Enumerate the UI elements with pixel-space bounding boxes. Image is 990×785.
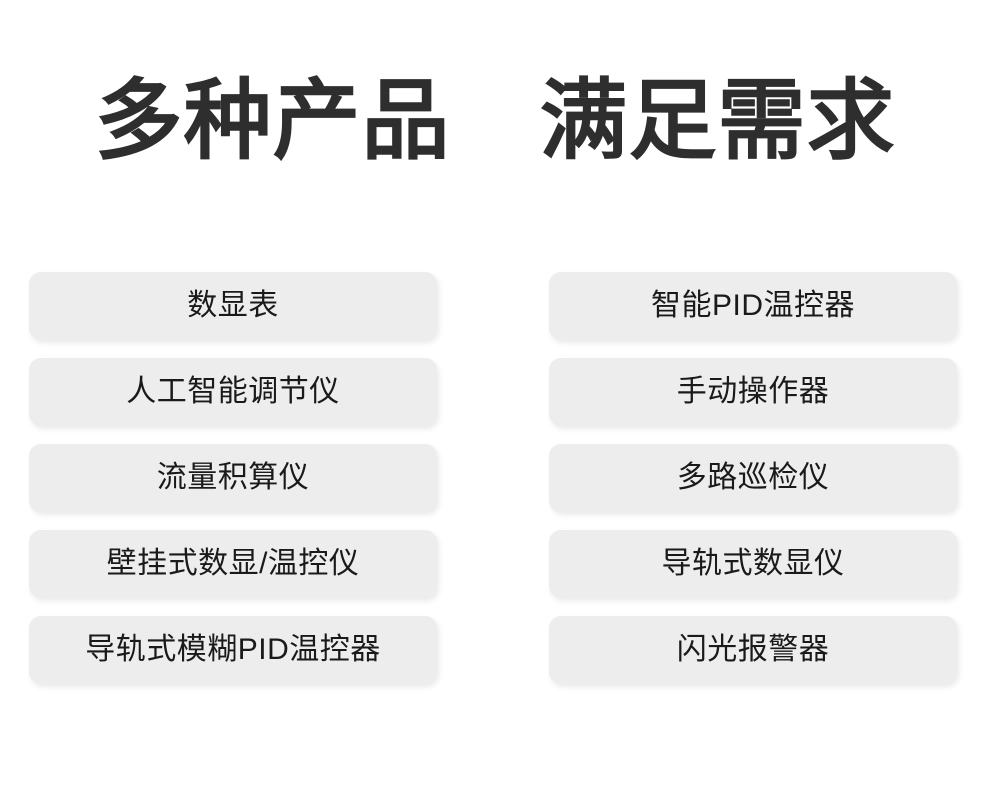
product-pill-label: 导轨式数显仪 (662, 547, 845, 581)
product-pill-shuxianbiao[interactable]: 数显表 (29, 272, 437, 340)
product-pill-flash-alarm[interactable]: 闪光报警器 (549, 616, 957, 684)
product-pill-label: 闪光报警器 (677, 633, 830, 667)
product-pill-label: 数显表 (187, 289, 279, 323)
page-heading: 多种产品 满足需求 (0, 66, 990, 176)
product-pill-din-rail-display[interactable]: 导轨式数显仪 (549, 530, 957, 598)
product-pill-label: 智能PID温控器 (651, 289, 855, 323)
product-pill-multi-channel-inspector[interactable]: 多路巡检仪 (549, 444, 957, 512)
product-pill-label: 人工智能调节仪 (126, 375, 340, 409)
product-category-grid: 数显表 人工智能调节仪 流量积算仪 壁挂式数显/温控仪 导轨式模糊PID温控器 … (29, 272, 957, 684)
product-category-page: 多种产品 满足需求 数显表 人工智能调节仪 流量积算仪 壁挂式数显/温控仪 导轨… (0, 0, 990, 785)
product-pill-manual-operator[interactable]: 手动操作器 (549, 358, 957, 426)
product-column-left: 数显表 人工智能调节仪 流量积算仪 壁挂式数显/温控仪 导轨式模糊PID温控器 (29, 272, 437, 684)
product-pill-ai-regulator[interactable]: 人工智能调节仪 (29, 358, 437, 426)
product-pill-wall-mounted-display[interactable]: 壁挂式数显/温控仪 (29, 530, 437, 598)
product-pill-label: 导轨式模糊PID温控器 (85, 633, 381, 667)
page-title: 多种产品 满足需求 (0, 66, 990, 176)
product-pill-din-rail-fuzzy-pid[interactable]: 导轨式模糊PID温控器 (29, 616, 437, 684)
product-column-right: 智能PID温控器 手动操作器 多路巡检仪 导轨式数显仪 闪光报警器 (549, 272, 957, 684)
product-pill-smart-pid-controller[interactable]: 智能PID温控器 (549, 272, 957, 340)
product-pill-label: 多路巡检仪 (677, 461, 830, 495)
product-pill-label: 壁挂式数显/温控仪 (107, 547, 360, 581)
product-pill-flow-totalizer[interactable]: 流量积算仪 (29, 444, 437, 512)
product-pill-label: 手动操作器 (677, 375, 830, 409)
product-pill-label: 流量积算仪 (157, 461, 310, 495)
